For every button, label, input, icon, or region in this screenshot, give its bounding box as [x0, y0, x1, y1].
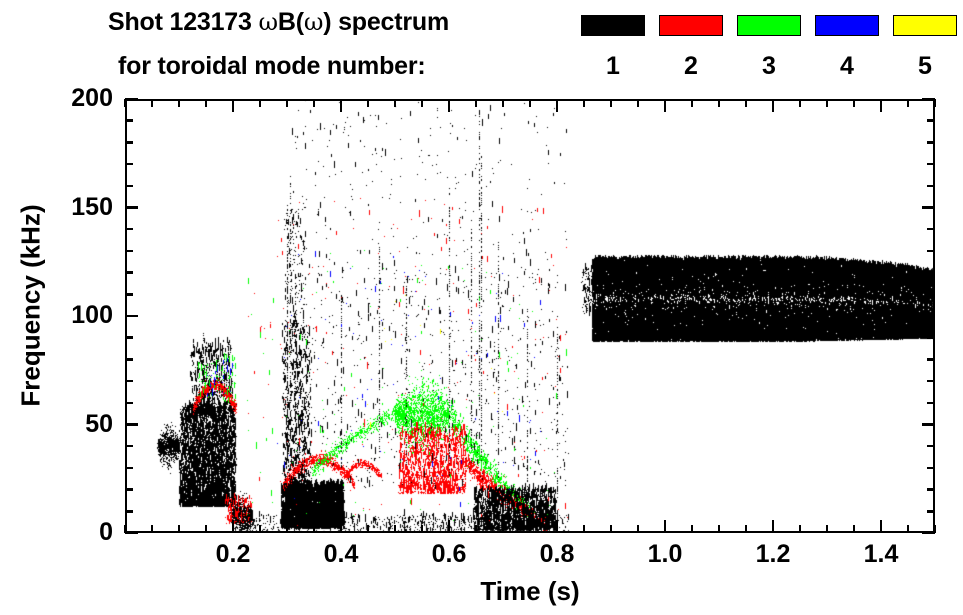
x-tick-major: [772, 99, 775, 112]
x-tick-minor: [313, 525, 316, 533]
x-tick-major: [448, 520, 451, 533]
x-tick-minor: [799, 99, 802, 107]
x-tick-minor: [151, 525, 154, 533]
title-shot-text: Shot 123173: [108, 8, 258, 36]
figure-title-line-2: for toroidal mode number:: [118, 52, 426, 81]
x-tick-minor: [745, 99, 748, 107]
x-tick-minor: [286, 525, 289, 533]
legend-swatch-n4: [815, 15, 879, 36]
legend-label-n2: 2: [659, 52, 723, 81]
x-tick-minor: [394, 99, 397, 107]
x-tick-major: [664, 99, 667, 112]
x-tick-minor: [124, 525, 127, 533]
x-tick-minor: [259, 99, 262, 107]
x-tick-minor: [826, 99, 829, 107]
y-tick-minor: [125, 336, 133, 339]
x-tick-minor: [151, 99, 154, 107]
y-tick-label: 100: [71, 303, 113, 328]
x-tick-minor: [826, 525, 829, 533]
y-tick-minor: [125, 510, 133, 513]
x-tick-minor: [286, 99, 289, 107]
y-tick-minor: [125, 141, 133, 144]
y-tick-minor: [125, 163, 133, 166]
x-tick-label: 0.6: [409, 542, 489, 567]
y-tick-minor: [927, 445, 935, 448]
y-tick-minor: [927, 163, 935, 166]
x-tick-minor: [583, 525, 586, 533]
x-axis-tick-labels: 0.20.40.60.81.01.21.4: [125, 542, 935, 572]
y-tick-major: [125, 206, 138, 209]
legend-swatch-n1: [581, 15, 645, 36]
y-tick-minor: [125, 467, 133, 470]
y-tick-label: 150: [71, 195, 113, 220]
x-tick-major: [448, 99, 451, 112]
y-tick-minor: [125, 402, 133, 405]
x-tick-major: [232, 99, 235, 112]
x-tick-minor: [853, 525, 856, 533]
y-tick-minor: [927, 141, 935, 144]
y-tick-minor: [927, 250, 935, 253]
x-tick-label: 0.8: [517, 542, 597, 567]
y-tick-label: 0: [99, 520, 113, 545]
x-tick-label: 0.2: [193, 542, 273, 567]
x-axis-title: Time (s): [125, 576, 935, 607]
y-tick-minor: [927, 293, 935, 296]
legend-swatch-n2: [659, 15, 723, 36]
x-tick-minor: [718, 99, 721, 107]
y-tick-minor: [927, 467, 935, 470]
x-tick-minor: [502, 525, 505, 533]
y-tick-major: [922, 315, 935, 318]
spectrogram-figure: Shot 123173 ωB(ω) spectrum for toroidal …: [0, 0, 963, 615]
y-tick-minor: [927, 380, 935, 383]
y-tick-minor: [125, 250, 133, 253]
x-tick-minor: [691, 99, 694, 107]
y-tick-minor: [125, 293, 133, 296]
x-tick-minor: [934, 99, 937, 107]
y-tick-minor: [125, 380, 133, 383]
y-tick-minor: [125, 358, 133, 361]
y-tick-minor: [125, 228, 133, 231]
x-tick-major: [880, 99, 883, 112]
y-tick-major: [922, 206, 935, 209]
x-tick-minor: [637, 525, 640, 533]
x-tick-minor: [475, 99, 478, 107]
y-tick-minor: [927, 336, 935, 339]
figure-title-line-1: Shot 123173 ωB(ω) spectrum: [108, 8, 449, 37]
x-tick-minor: [205, 99, 208, 107]
x-tick-minor: [421, 99, 424, 107]
x-tick-major: [772, 520, 775, 533]
x-tick-minor: [313, 99, 316, 107]
y-tick-minor: [927, 510, 935, 513]
y-tick-minor: [927, 358, 935, 361]
x-tick-major: [340, 99, 343, 112]
y-tick-label: 50: [85, 412, 113, 437]
legend-label-n5: 5: [893, 52, 957, 81]
x-tick-minor: [367, 525, 370, 533]
x-tick-minor: [583, 99, 586, 107]
legend-label-n1: 1: [581, 52, 645, 81]
title-b-text: B(: [278, 8, 304, 36]
y-axis-title: Frequency (kHz): [16, 106, 47, 506]
x-tick-major: [556, 520, 559, 533]
y-tick-minor: [125, 119, 133, 122]
y-tick-minor: [927, 402, 935, 405]
x-tick-minor: [745, 525, 748, 533]
x-tick-label: 1.0: [625, 542, 705, 567]
y-tick-minor: [125, 185, 133, 188]
y-tick-minor: [927, 488, 935, 491]
y-tick-minor: [125, 445, 133, 448]
y-tick-label: 200: [71, 86, 113, 111]
x-tick-label: 0.4: [301, 542, 381, 567]
title-spectrum-text: ) spectrum: [323, 8, 449, 36]
x-tick-minor: [529, 525, 532, 533]
x-tick-minor: [367, 99, 370, 107]
x-tick-minor: [934, 525, 937, 533]
omega-symbol-1: ω: [258, 8, 277, 36]
x-tick-minor: [799, 525, 802, 533]
x-tick-minor: [394, 525, 397, 533]
x-tick-minor: [691, 525, 694, 533]
x-tick-major: [880, 520, 883, 533]
x-tick-minor: [421, 525, 424, 533]
x-tick-minor: [853, 99, 856, 107]
x-tick-minor: [502, 99, 505, 107]
x-tick-minor: [205, 525, 208, 533]
plot-area: [125, 99, 935, 533]
spectrogram-canvas: [125, 99, 935, 533]
y-tick-major: [125, 532, 138, 535]
x-tick-label: 1.2: [733, 542, 813, 567]
y-tick-minor: [927, 185, 935, 188]
x-tick-minor: [178, 99, 181, 107]
x-tick-major: [664, 520, 667, 533]
x-tick-minor: [637, 99, 640, 107]
y-tick-minor: [927, 119, 935, 122]
x-tick-minor: [907, 99, 910, 107]
y-tick-major: [125, 98, 138, 101]
legend-label-n4: 4: [815, 52, 879, 81]
y-tick-minor: [125, 271, 133, 274]
y-tick-minor: [125, 488, 133, 491]
y-tick-major: [125, 315, 138, 318]
x-tick-minor: [529, 99, 532, 107]
x-tick-major: [340, 520, 343, 533]
x-tick-major: [556, 99, 559, 112]
legend-swatch-n3: [737, 15, 801, 36]
x-tick-major: [232, 520, 235, 533]
x-tick-minor: [610, 525, 613, 533]
x-tick-label: 1.4: [841, 542, 921, 567]
y-tick-major: [922, 423, 935, 426]
legend-label-n3: 3: [737, 52, 801, 81]
x-tick-minor: [178, 525, 181, 533]
legend-swatch-n5: [893, 15, 957, 36]
x-tick-minor: [610, 99, 613, 107]
x-tick-minor: [259, 525, 262, 533]
x-tick-minor: [475, 525, 478, 533]
y-tick-minor: [927, 271, 935, 274]
y-tick-minor: [927, 228, 935, 231]
x-tick-minor: [718, 525, 721, 533]
x-tick-minor: [907, 525, 910, 533]
omega-symbol-2: ω: [304, 8, 323, 36]
x-tick-minor: [124, 99, 127, 107]
y-tick-major: [125, 423, 138, 426]
